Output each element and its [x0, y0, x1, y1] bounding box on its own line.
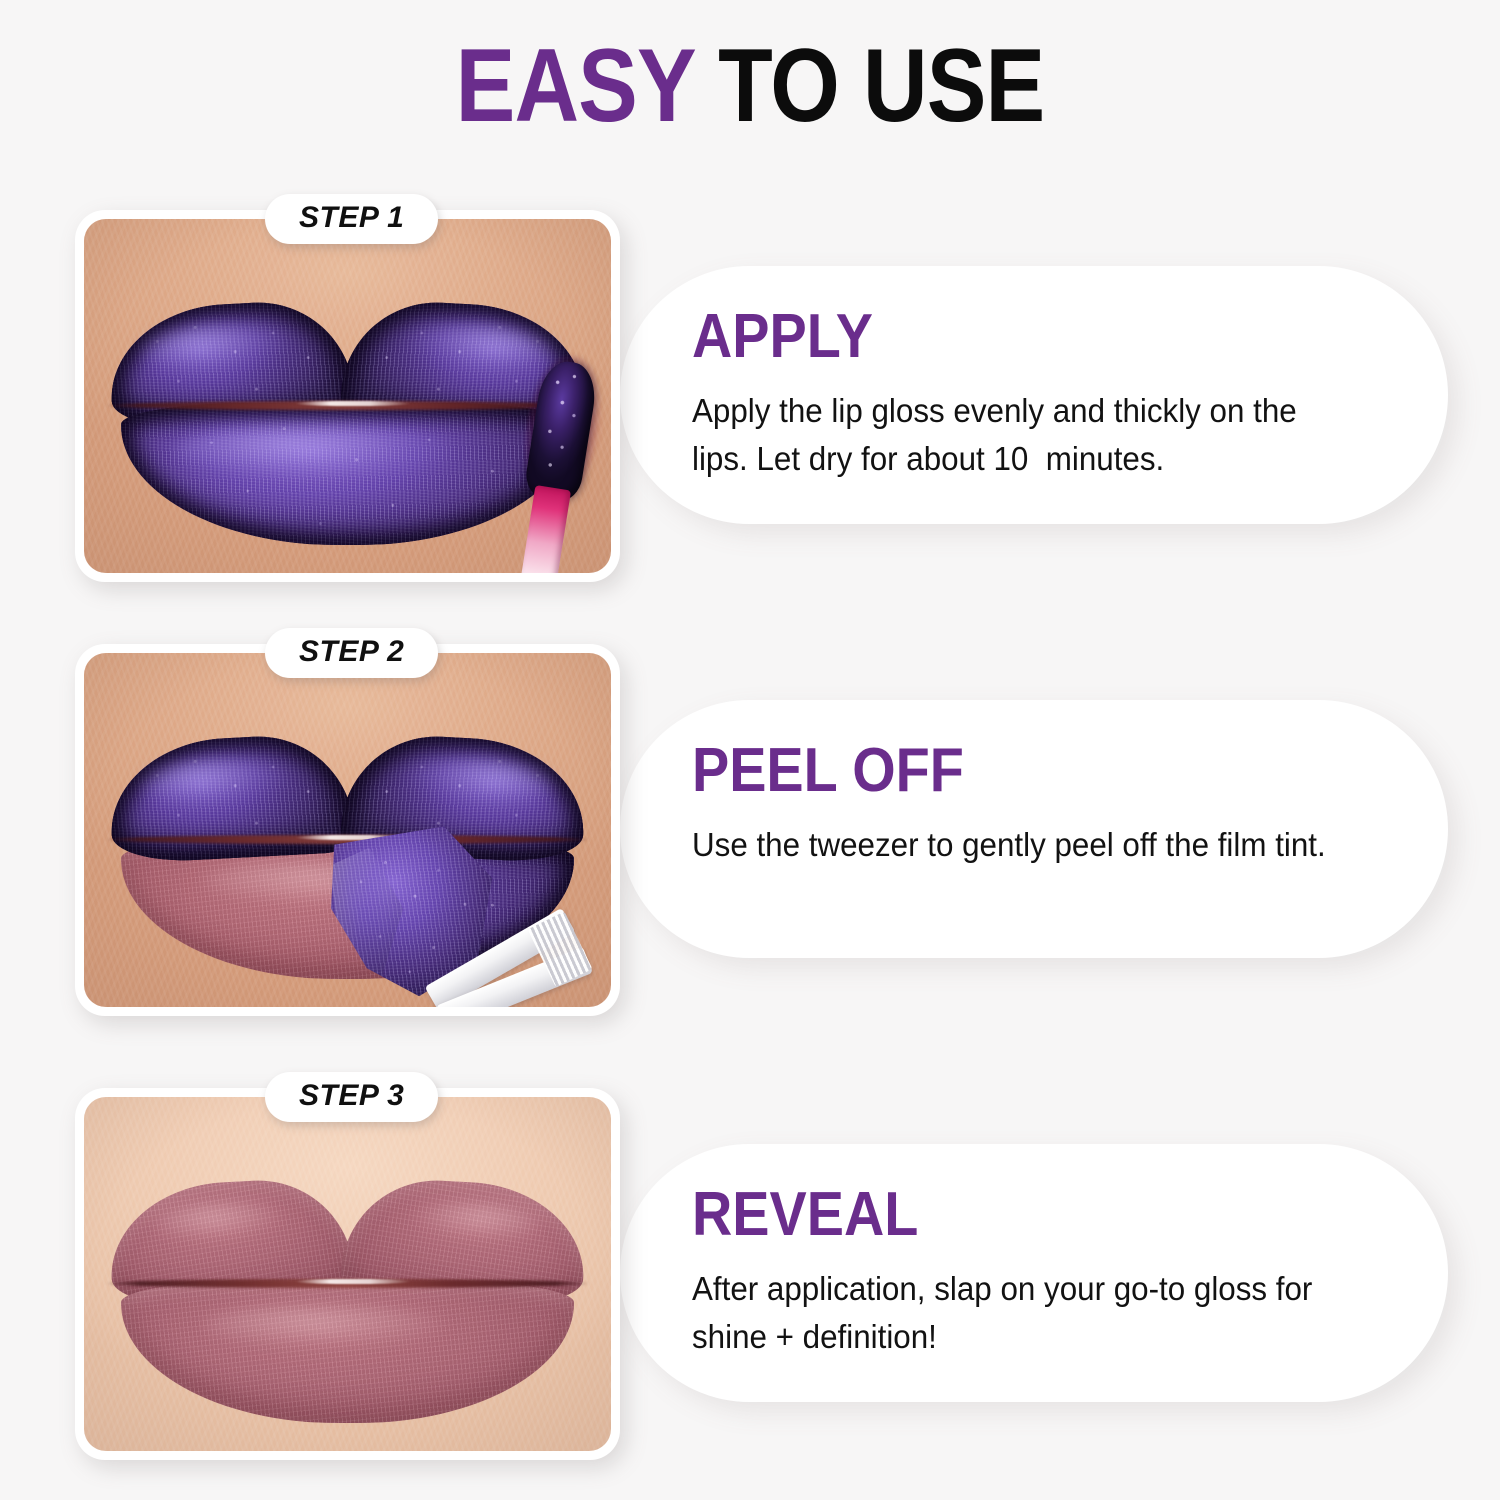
rose-texture — [121, 1281, 574, 1423]
lower-lip — [121, 1281, 574, 1423]
step-2-photo — [84, 653, 611, 1007]
rose-gloss-highlight — [202, 1304, 447, 1346]
step-3-body: After application, slap on your go-to gl… — [692, 1265, 1344, 1361]
step-3-heading: REVEAL — [692, 1184, 1309, 1246]
step-2-badge: STEP 2 — [265, 628, 438, 678]
step-3-image-card: STEP 3 — [75, 1088, 620, 1460]
step-3-text-card: REVEAL After application, slap on your g… — [620, 1144, 1448, 1402]
page-title-word-touse: TO USE — [718, 28, 1044, 144]
page-title: EASY TO USE — [105, 32, 1395, 141]
page-title-word-easy: EASY — [456, 28, 695, 144]
step-row-2: PEEL OFF Use the tweezer to gently peel … — [0, 634, 1500, 1034]
step-1-heading: APPLY — [692, 306, 1309, 368]
step-row-1: APPLY Apply the lip gloss evenly and thi… — [0, 200, 1500, 600]
step-1-body: Apply the lip gloss evenly and thickly o… — [692, 387, 1344, 483]
infographic-page: EASY TO USE APPLY Apply the lip gloss ev… — [0, 0, 1500, 1500]
step-1-badge: STEP 1 — [265, 194, 438, 244]
step-1-text-card: APPLY Apply the lip gloss evenly and thi… — [620, 266, 1448, 524]
lip-edge-shadow — [107, 732, 355, 865]
step-1-image-card: STEP 1 — [75, 210, 620, 582]
wand-handle — [520, 485, 570, 573]
upper-lip-left-lobe — [107, 732, 355, 865]
wand-doe-foot-tip — [523, 357, 599, 502]
step-2-heading: PEEL OFF — [692, 740, 1309, 802]
step-row-3: REVEAL After application, slap on your g… — [0, 1078, 1500, 1478]
step-1-photo — [84, 219, 611, 573]
step-2-image-card: STEP 2 — [75, 644, 620, 1016]
step-3-photo — [84, 1097, 611, 1451]
step-2-text-card: PEEL OFF Use the tweezer to gently peel … — [620, 700, 1448, 958]
lips-rose-matte — [84, 1097, 611, 1451]
step-3-badge: STEP 3 — [265, 1072, 438, 1122]
step-2-body: Use the tweezer to gently peel off the f… — [692, 821, 1344, 869]
